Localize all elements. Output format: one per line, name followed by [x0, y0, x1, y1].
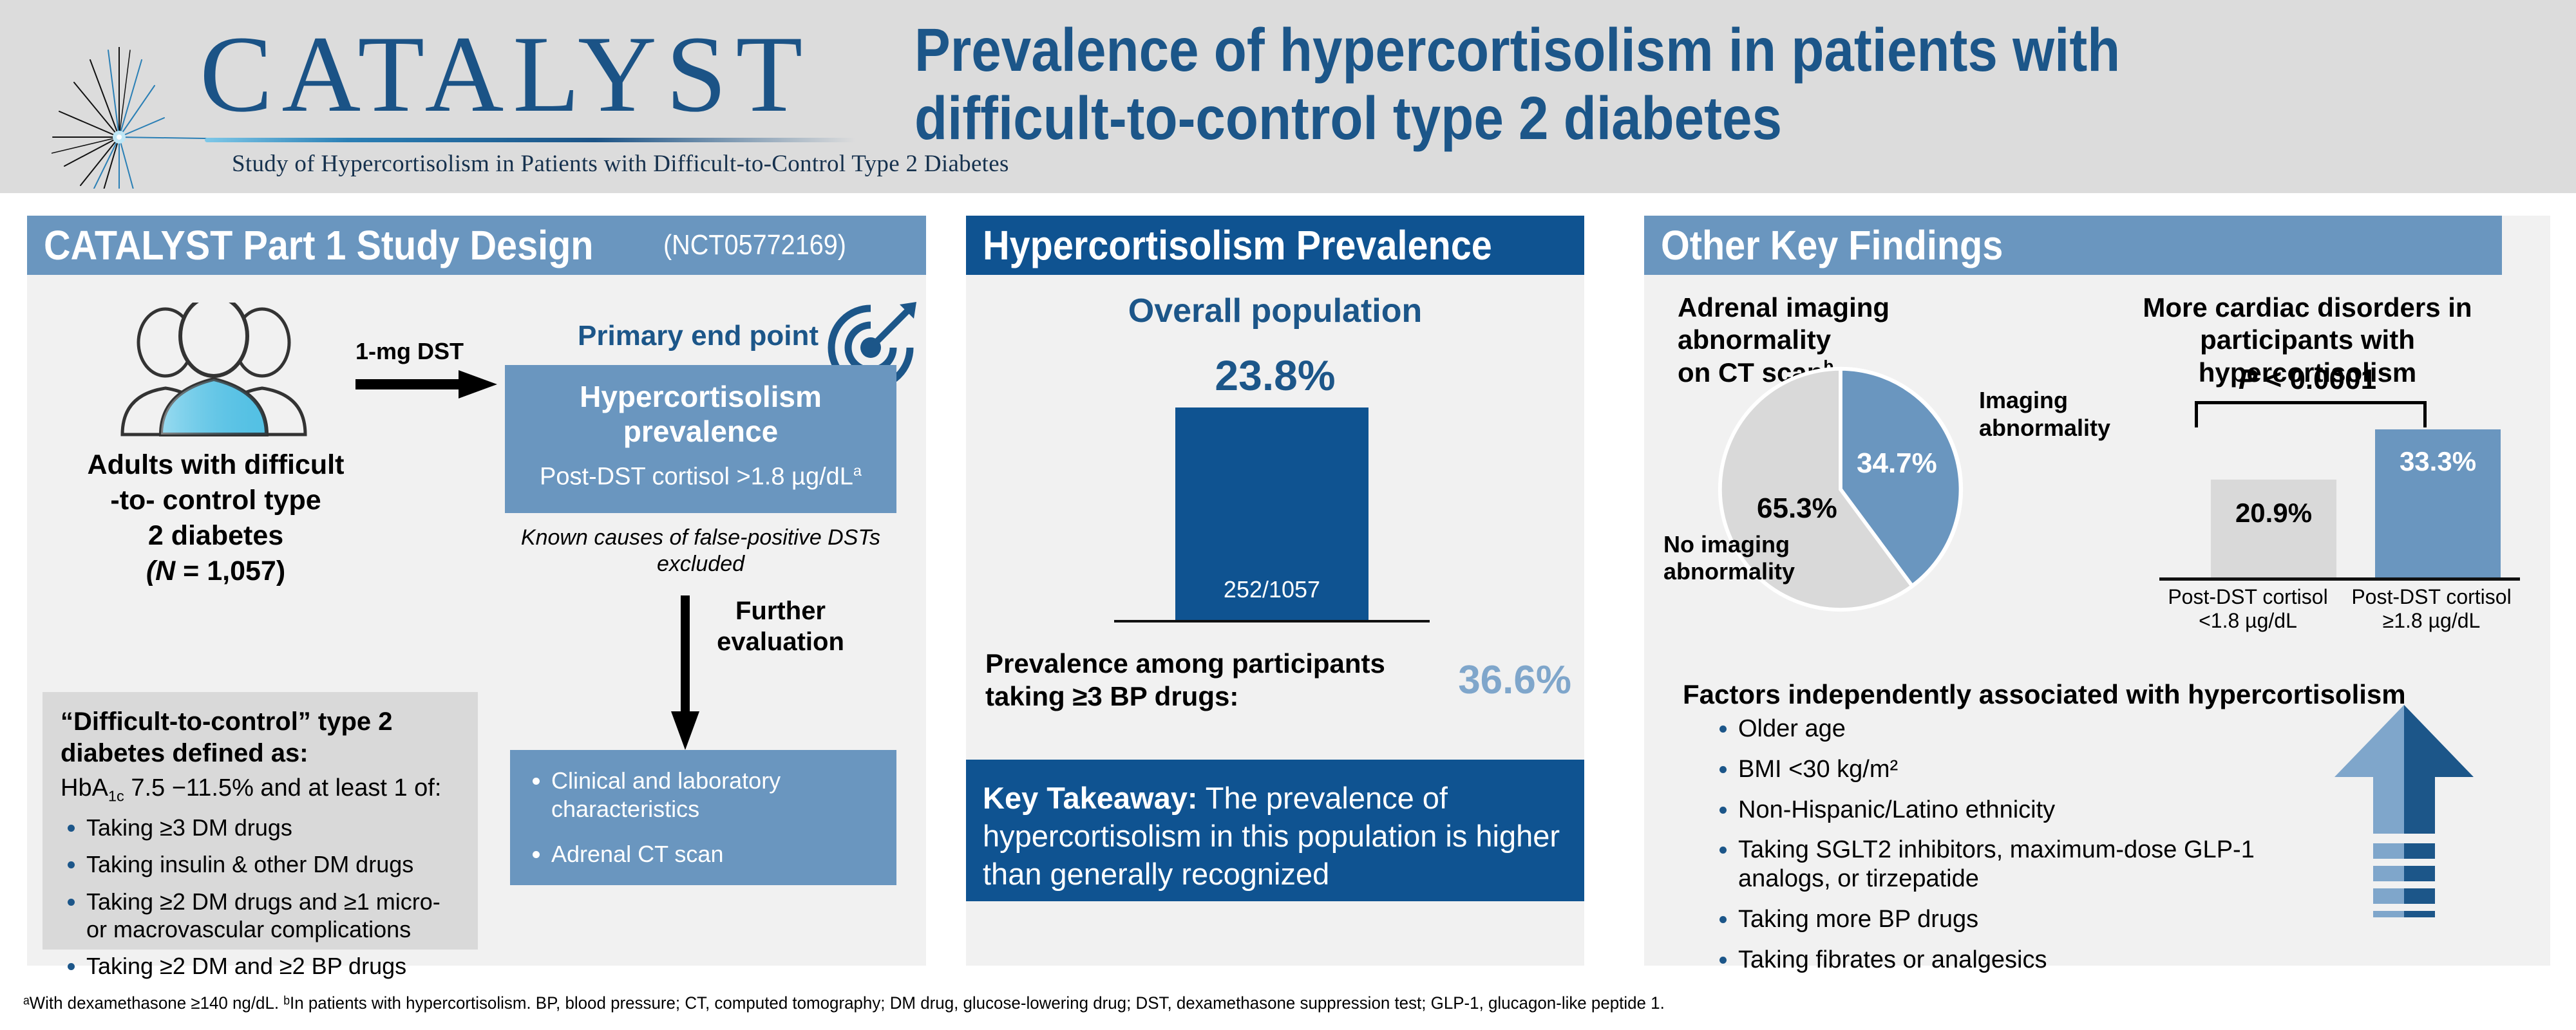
upward-arrow-icon [2327, 705, 2481, 917]
further-evaluation-list: Clinical and laboratory characteristics … [524, 767, 882, 868]
cardiac-tick-low-line1: Post-DST cortisol [2159, 585, 2336, 609]
secondary-prevalence-line1: Prevalence among participants [985, 647, 1452, 680]
endpoint-criteria-text: Post-DST cortisol >1.8 µg/dL [540, 463, 853, 490]
prevalence-percent-label: 23.8% [966, 351, 1584, 400]
list-item: Taking insulin & other DM drugs [86, 850, 462, 878]
cardiac-tick-high-line2: ≥1.8 µg/dL [2343, 609, 2520, 633]
cohort-sample-size: (N = 1,057) [52, 554, 380, 589]
cardiac-bar-tick-high: Post-DST cortisol ≥1.8 µg/dL [2343, 585, 2520, 633]
hba1c-range: 7.5 −11.5% and at least 1 of: [124, 774, 442, 801]
panel3-header: Other Key Findings [1644, 216, 2502, 275]
key-takeaway-label: Key Takeaway: [983, 781, 1198, 815]
logo-tagline: Study of Hypercortisolism in Patients wi… [232, 150, 1009, 178]
pie-slice-no-imaging-value: 65.3% [1757, 492, 1837, 525]
arrow-right-icon [355, 370, 497, 398]
prevalence-bar-fraction: 252/1057 [1175, 576, 1368, 603]
endpoint-title-line2: prevalence [505, 414, 896, 449]
list-item: BMI <30 kg/m² [1738, 755, 2318, 784]
primary-endpoint-label: Primary end point [578, 320, 819, 352]
list-item: Older age [1738, 715, 2318, 744]
definition-box: “Difficult-to-control” type 2 diabetes d… [43, 692, 478, 950]
prevalence-bar-axis [1114, 620, 1430, 623]
footnote: ᵃWith dexamethasone ≥140 ng/dL. ᵇIn pati… [23, 993, 2434, 1013]
catalyst-logo: CATALYST Study of Hypercortisolism in Pa… [39, 12, 850, 184]
people-group-icon [98, 303, 330, 441]
dst-label: 1-mg DST [355, 338, 464, 365]
cardiac-chart-title-line1: More cardiac disorders in [2095, 292, 2520, 324]
definition-title: “Difficult-to-control” type 2 diabetes d… [61, 706, 462, 769]
cardiac-tick-high-line1: Post-DST cortisol [2343, 585, 2520, 609]
overall-population-label: Overall population [966, 292, 1584, 330]
list-item: Clinical and laboratory characteristics [551, 767, 882, 823]
pie-label-no-imaging-abnormality: No imaging abnormality [1663, 531, 1792, 585]
endpoint-criteria-footnote-marker: a [853, 462, 862, 479]
list-item: Taking fibrates or analgesics [1738, 946, 2318, 975]
further-evaluation-line1: Further [716, 595, 845, 626]
logo-wordmark: CATALYST [200, 19, 811, 129]
pie-label-imaging-abnormality: Imaging abnormality [1979, 386, 2153, 442]
list-item: Taking ≥2 DM and ≥2 BP drugs [86, 952, 462, 980]
list-item: Non-Hispanic/Latino ethnicity [1738, 796, 2318, 825]
cardiac-bar-low-cortisol [2211, 480, 2336, 577]
panel-other-findings: Other Key Findings Adrenal imaging abnor… [1644, 216, 2550, 966]
key-takeaway-box: Key Takeaway: The prevalence of hypercor… [966, 760, 1584, 901]
panel2-header-title: Hypercortisolism Prevalence [983, 221, 1492, 269]
list-item: Taking ≥3 DM drugs [86, 814, 462, 841]
pie-slice-imaging-value: 34.7% [1857, 447, 1937, 480]
cardiac-bar-low-value: 20.9% [2211, 498, 2336, 529]
p-value-annotation: P < 0.0001 [2134, 364, 2481, 396]
list-item: Taking ≥2 DM drugs and ≥1 micro- or macr… [86, 888, 462, 943]
definition-criteria: HbA1c 7.5 −11.5% and at least 1 of: [61, 774, 462, 805]
panel2-header: Hypercortisolism Prevalence [966, 216, 1584, 275]
definition-title-line1: “Difficult-to-control” type 2 [61, 706, 462, 738]
cohort-line-1: Adults with difficult [52, 447, 380, 483]
panel1-header: CATALYST Part 1 Study Design (NCT0577216… [27, 216, 926, 275]
further-evaluation-line2: evaluation [716, 626, 845, 657]
list-item: Taking SGLT2 inhibitors, maximum-dose GL… [1738, 836, 2318, 894]
panel-study-design: CATALYST Part 1 Study Design (NCT0577216… [27, 216, 926, 966]
definition-list: Taking ≥3 DM drugs Taking insulin & othe… [61, 814, 462, 980]
cardiac-bar-high-value: 33.3% [2375, 446, 2501, 477]
list-item: Taking more BP drugs [1738, 905, 2318, 934]
page-title-line1: Prevalence of hypercortisolism in patien… [914, 16, 2343, 84]
further-evaluation-box: Clinical and laboratory characteristics … [510, 750, 896, 885]
endpoint-note-line1: Known causes of false-positive DSTs [521, 525, 880, 550]
further-evaluation-label: Further evaluation [716, 595, 845, 657]
definition-title-line2: diabetes defined as: [61, 738, 462, 769]
endpoint-title-line1: Hypercortisolism [505, 379, 896, 414]
cohort-line-2: -to- control type [52, 483, 380, 518]
factors-title: Factors independently associated with hy… [1683, 679, 2406, 710]
pie-chart-title-line1: Adrenal imaging abnormality [1678, 292, 2045, 357]
list-item: Adrenal CT scan [551, 840, 882, 868]
secondary-prevalence-label: Prevalence among participants taking ≥3 … [985, 647, 1452, 713]
panel3-header-title: Other Key Findings [1661, 221, 2003, 269]
cohort-label: Adults with difficult -to- control type … [52, 447, 380, 589]
arrow-down-icon [671, 595, 699, 750]
secondary-prevalence-line2: taking ≥3 BP drugs: [985, 680, 1452, 713]
hba1c-prefix: HbA [61, 774, 108, 801]
endpoint-criteria: Post-DST cortisol >1.8 µg/dLa [505, 462, 896, 491]
secondary-prevalence-row: Prevalence among participants taking ≥3 … [985, 647, 1571, 713]
secondary-prevalence-value: 36.6% [1458, 657, 1571, 703]
page-title: Prevalence of hypercortisolism in patien… [914, 16, 2343, 153]
panel1-header-title: CATALYST Part 1 Study Design [44, 221, 593, 269]
cardiac-bar-tick-low: Post-DST cortisol <1.8 µg/dL [2159, 585, 2336, 633]
endpoint-note: Known causes of false-positive DSTs excl… [505, 525, 896, 577]
logo-underline [205, 138, 855, 142]
hba1c-subscript: 1c [108, 787, 124, 804]
significance-bracket [2195, 401, 2427, 427]
cardiac-bar-axis [2159, 577, 2520, 581]
cohort-line-3: 2 diabetes [52, 518, 380, 554]
page-title-line2: difficult-to-control type 2 diabetes [914, 84, 2343, 153]
endpoint-note-line2: excluded [657, 552, 744, 576]
panel-prevalence: Hypercortisolism Prevalence Overall popu… [966, 216, 1584, 966]
primary-endpoint-box: Hypercortisolism prevalence Post-DST cor… [505, 365, 896, 513]
panel1-header-registry-id: (NCT05772169) [663, 229, 846, 261]
cardiac-tick-low-line2: <1.8 µg/dL [2159, 609, 2336, 633]
factors-list: Older age BMI <30 kg/m² Non-Hispanic/Lat… [1709, 715, 2318, 986]
